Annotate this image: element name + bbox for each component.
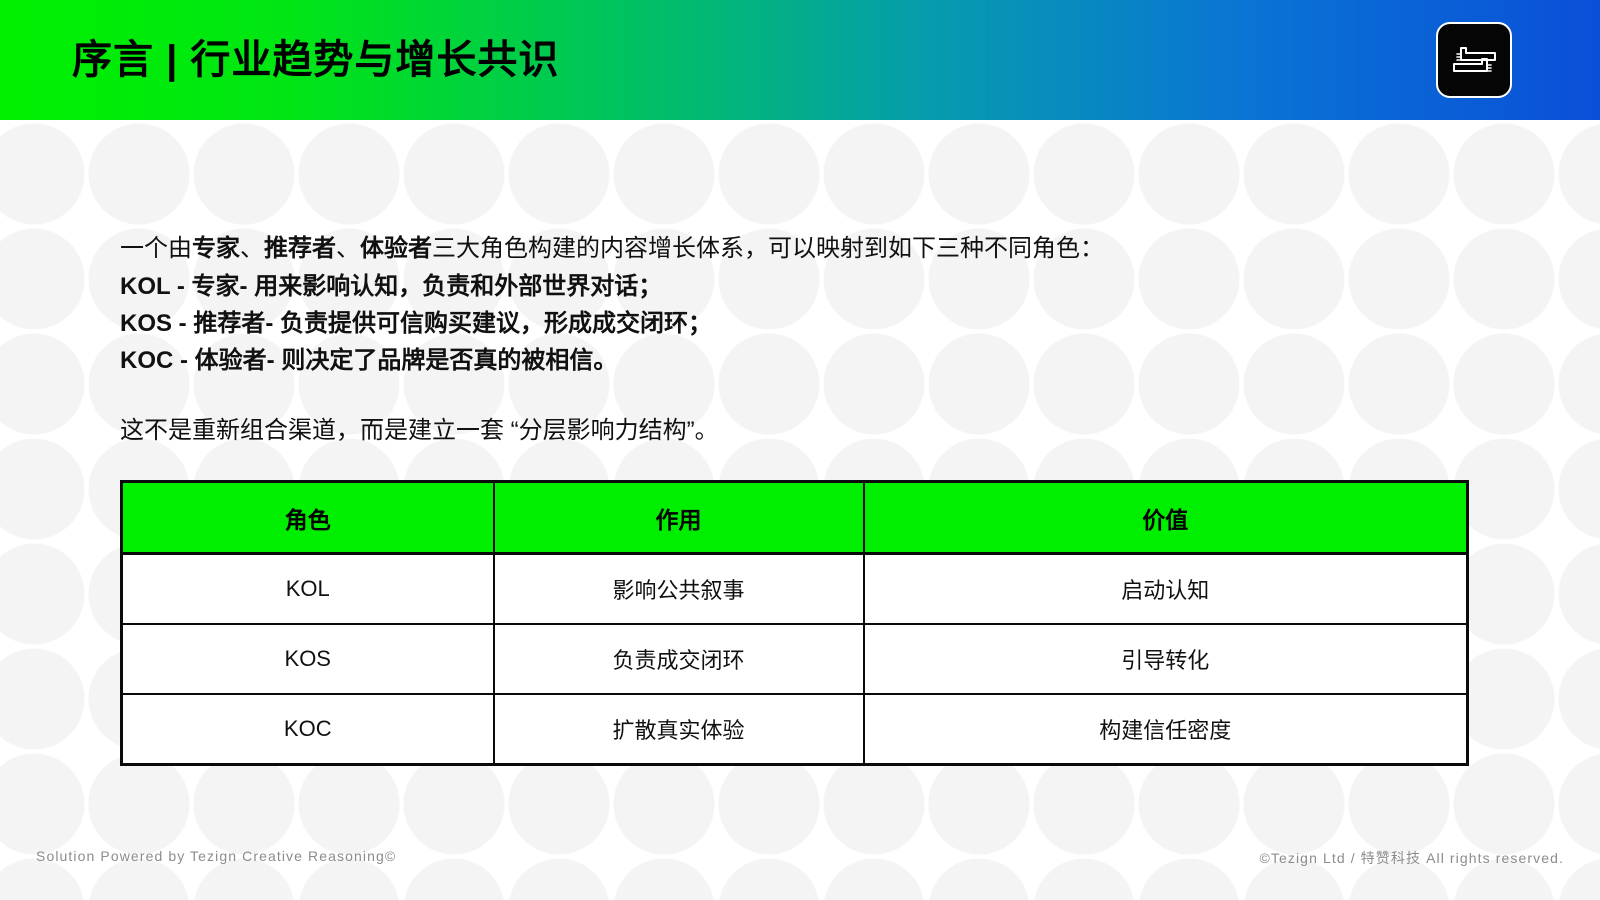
- role-line-koc: KOC - 体验者- 则决定了品牌是否真的被相信。: [120, 342, 712, 379]
- cell-function: 扩散真实体验: [494, 694, 864, 765]
- lead-paragraph: 一个由专家、推荐者、体验者三大角色构建的内容增长体系，可以映射到如下三种不同角色…: [120, 232, 1104, 266]
- role-comparison-table: 角色 作用 价值 KOL 影响公共叙事 启动认知 KOS 负责成交闭环 引导转化…: [120, 480, 1469, 766]
- table-row: KOL 影响公共叙事 启动认知: [122, 554, 1468, 625]
- cell-role: KOL: [122, 554, 494, 625]
- cell-value: 启动认知: [864, 554, 1468, 625]
- lead-separator-2: 、: [336, 235, 360, 262]
- column-header-function: 作用: [494, 482, 864, 554]
- slide-footer: Solution Powered by Tezign Creative Reas…: [0, 830, 1600, 900]
- role-definition-list: KOL - 专家- 用来影响认知，负责和外部世界对话； KOS - 推荐者- 负…: [120, 268, 712, 379]
- slide-root: 序言 | 行业趋势与增长共识 一个由专家、推荐者、体验者三大角色构建的内容增长体…: [0, 0, 1600, 900]
- lead-bold-recommender: 推荐者: [264, 235, 336, 262]
- cell-value: 构建信任密度: [864, 694, 1468, 765]
- cell-value: 引导转化: [864, 624, 1468, 694]
- cell-role: KOS: [122, 624, 494, 694]
- role-line-kos: KOS - 推荐者- 负责提供可信购买建议，形成成交闭环；: [120, 305, 712, 342]
- cell-function: 影响公共叙事: [494, 554, 864, 625]
- lead-prefix: 一个由: [120, 235, 192, 262]
- lead-bold-experiencer: 体验者: [360, 235, 432, 262]
- tezign-logo: [1436, 22, 1512, 98]
- thumbs-up-logo-icon: [1448, 39, 1500, 81]
- column-header-role: 角色: [122, 482, 494, 554]
- table-header-row: 角色 作用 价值: [122, 482, 1468, 554]
- lead-bold-expert: 专家: [192, 235, 240, 262]
- table-row: KOS 负责成交闭环 引导转化: [122, 624, 1468, 694]
- footer-attribution: Solution Powered by Tezign Creative Reas…: [36, 848, 396, 864]
- table-row: KOC 扩散真实体验 构建信任密度: [122, 694, 1468, 765]
- slide-content: 一个由专家、推荐者、体验者三大角色构建的内容增长体系，可以映射到如下三种不同角色…: [0, 120, 1600, 900]
- role-line-kol: KOL - 专家- 用来影响认知，负责和外部世界对话；: [120, 268, 712, 305]
- lead-suffix: 三大角色构建的内容增长体系，可以映射到如下三种不同角色：: [432, 235, 1104, 262]
- cell-role: KOC: [122, 694, 494, 765]
- lead-separator-1: 、: [240, 235, 264, 262]
- header-bar: 序言 | 行业趋势与增长共识: [0, 0, 1600, 120]
- footer-copyright: ©Tezign Ltd / 特赞科技 All rights reserved.: [1259, 848, 1564, 868]
- column-header-value: 价值: [864, 482, 1468, 554]
- page-title: 序言 | 行业趋势与增长共识: [72, 28, 559, 92]
- cell-function: 负责成交闭环: [494, 624, 864, 694]
- closing-paragraph: 这不是重新组合渠道，而是建立一套 “分层影响力结构”。: [120, 414, 719, 448]
